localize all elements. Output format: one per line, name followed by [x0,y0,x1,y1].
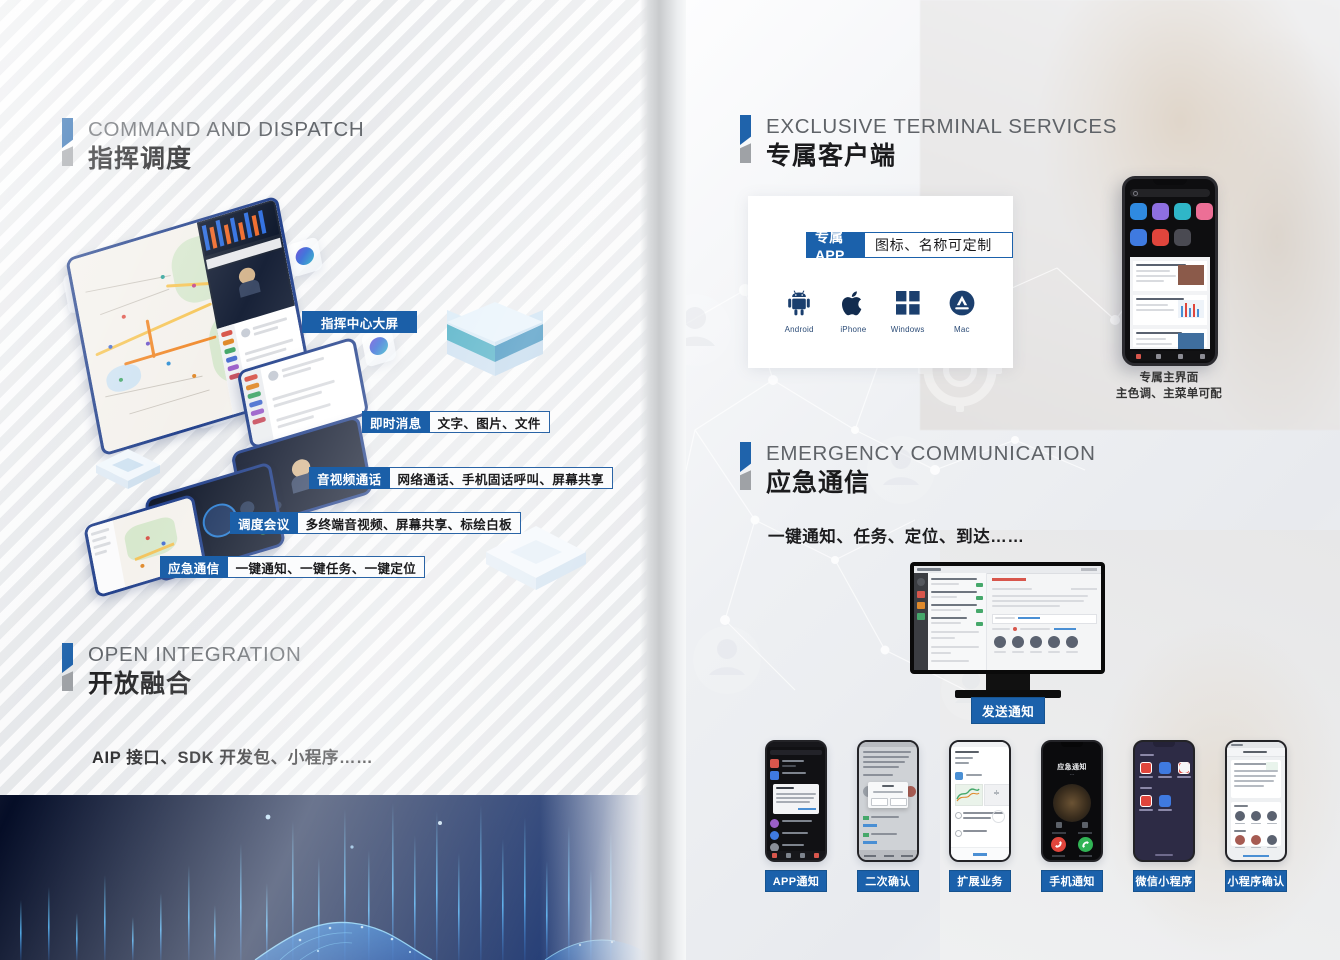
open-integration-note: AIP 接口、SDK 开发包、小程序…… [92,744,373,768]
section-title-en: OPEN INTEGRATION [88,643,302,666]
platform-iphone[interactable]: iPhone [827,288,879,334]
phone-caption: 专属主界面 主色调、主菜单可配 [1094,370,1244,402]
diagram-label-av-call: 音视频通话 网络通话、手机固话呼叫、屏幕共享 [309,467,613,489]
platform-label: Mac [954,325,970,334]
mac-appstore-icon [949,288,975,318]
phone-label: APP通知 [765,870,827,892]
phone-screen [949,740,1011,862]
phone-notch [1153,179,1187,185]
tech-background-band [0,795,660,960]
android-icon [787,288,811,318]
send-notification-button[interactable]: 发送通知 [971,697,1045,724]
exclusive-app-card: 专属APP 图标、名称可定制 Android [748,196,1013,368]
phone-label: 扩展业务 [949,870,1011,892]
left-page: COMMAND AND DISPATCH 指挥调度 [0,0,660,960]
diagram-label-emergency: 应急通信 一键通知、一键任务、一键定位 [160,556,425,578]
phone-item-second-confirm: 二次确认 [857,740,919,892]
phone-item-miniprogram-confirm: 小程序确认 [1225,740,1287,892]
chip-key: 应急通信 [160,556,228,578]
section-title-en: EMERGENCY COMMUNICATION [766,442,1096,465]
chip-key: 调度会议 [230,512,298,534]
phone-item-mobile-notice: 应急通知 --- 手机通知 [1041,740,1103,892]
chip-value: 网络通话、手机固话呼叫、屏幕共享 [390,467,613,489]
accent-bar-icon [62,643,73,691]
section-title-cn: 应急通信 [766,468,1096,499]
section-title-cn: 专属客户端 [766,141,1117,172]
page-spine-divider [640,0,686,960]
chip-key: 即时消息 [362,411,430,433]
platform-label: iPhone [840,325,866,334]
accept-call-icon[interactable] [1078,837,1093,852]
chip-value: 文字、图片、文件 [430,411,550,433]
phone-screen: 应急通知 --- [1041,740,1103,862]
platform-label: Android [785,325,814,334]
stacked-layers-graphic [442,300,548,400]
emergency-comm-device [83,493,207,598]
phone-label: 微信小程序 [1133,870,1195,892]
section-title-cn: 开放融合 [88,669,302,700]
phone-screen [1133,740,1195,862]
emergency-phone-strip: APP通知 [765,740,1285,890]
chip-key: 指挥中心大屏 [302,311,417,333]
section-title-en: EXCLUSIVE TERMINAL SERVICES [766,115,1117,138]
apple-icon [842,288,865,318]
chip-value: 多终端音视频、屏幕共享、标绘白板 [298,512,521,534]
app-row-key: 专属APP [806,232,865,258]
diagram-label-conference: 调度会议 多终端音视频、屏幕共享、标绘白板 [230,512,521,534]
phone-label: 手机通知 [1041,870,1103,892]
windows-icon [896,288,920,318]
glass-tile [287,236,323,277]
section-heading-command-dispatch: COMMAND AND DISPATCH 指挥调度 [62,118,364,175]
section-heading-emergency: EMERGENCY COMMUNICATION 应急通信 [740,442,1096,499]
monitor-stand [986,674,1030,691]
phone-label: 二次确认 [857,870,919,892]
phone-item-extended-business: 扩展业务 [949,740,1011,892]
phone-item-wechat-miniprogram: 微信小程序 [1133,740,1195,892]
exclusive-app-row: 专属APP 图标、名称可定制 [806,232,1013,258]
app-row-value: 图标、名称可定制 [865,232,1013,258]
chip-key: 音视频通话 [309,467,390,489]
emergency-console-monitor [910,562,1105,702]
phone-item-app-notice: APP通知 [765,740,827,892]
emergency-note: 一键通知、任务、定位、到达…… [768,523,1025,547]
accent-bar-icon [740,442,751,490]
chip-value: 一键通知、一键任务、一键定位 [228,556,426,578]
platform-label: Windows [891,325,925,334]
phone-screen [1225,740,1287,862]
cube-graphic [92,445,164,499]
phone-caption-line1: 专属主界面 [1094,370,1244,386]
section-heading-open-integration: OPEN INTEGRATION 开放融合 [62,643,302,700]
monitor-screen [910,562,1105,674]
section-title-cn: 指挥调度 [88,144,364,175]
accent-bar-icon [62,118,73,166]
diagram-label-instant-message: 即时消息 文字、图片、文件 [362,411,550,433]
diagram-label-command-center: 指挥中心大屏 [302,311,417,333]
phone-screen [765,740,827,862]
platform-mac[interactable]: Mac [936,288,988,334]
accent-bar-icon [740,115,751,163]
platform-android[interactable]: Android [773,288,825,334]
incoming-call-title: 应急通知 [1043,762,1101,772]
phone-label: 小程序确认 [1225,870,1287,892]
section-heading-terminal-services: EXCLUSIVE TERMINAL SERVICES 专属客户端 [740,115,1117,172]
decline-call-icon[interactable] [1051,837,1066,852]
platform-list: Android iPhone Windows [748,288,1013,334]
phone-screen [857,740,919,862]
exclusive-app-phone-mockup [1122,176,1218,366]
platform-windows[interactable]: Windows [882,288,934,334]
section-title-en: COMMAND AND DISPATCH [88,118,364,141]
phone-caption-line2: 主色调、主菜单可配 [1094,386,1244,402]
